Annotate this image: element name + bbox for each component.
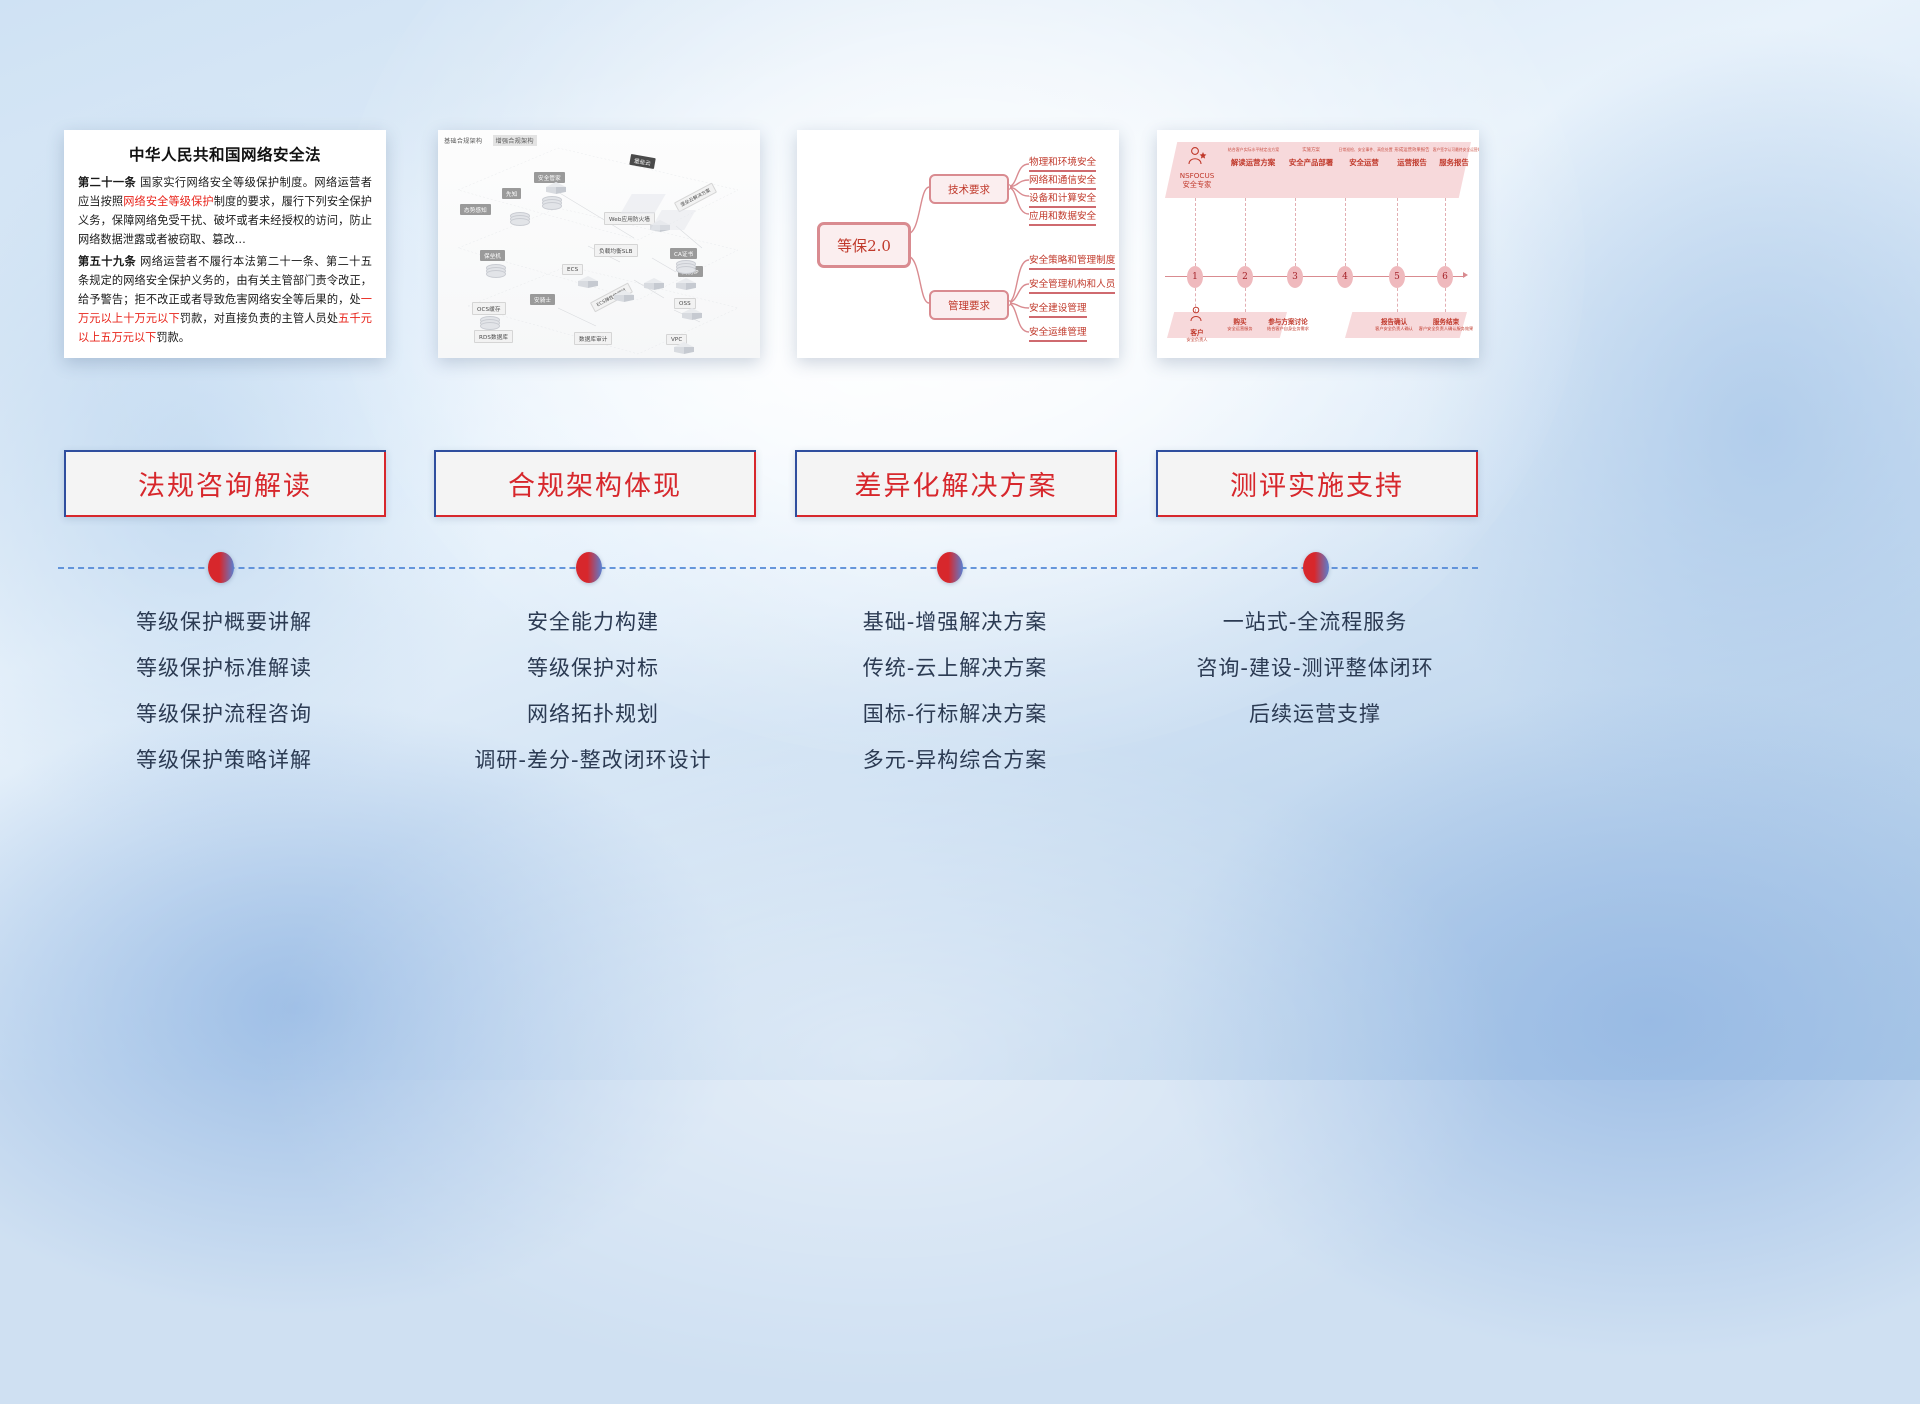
col-4-item-2: 咨询-建设-测评整体闭环 (1145, 654, 1485, 682)
column-evaluation-support: 一站式-全流程服务 咨询-建设-测评整体闭环 后续运营支撑 (1145, 608, 1485, 746)
banner-1-label: 法规咨询解读 (138, 464, 312, 503)
col-2-item-1: 安全能力构建 (423, 608, 763, 636)
column-regulation-consulting: 等级保护概要讲解 等级保护标准解读 等级保护流程咨询 等级保护策略详解 (54, 608, 394, 792)
col-1-item-1: 等级保护概要讲解 (54, 608, 394, 636)
col-1-item-3: 等级保护流程咨询 (54, 700, 394, 728)
banner-regulation-consulting[interactable]: 法规咨询解读 (64, 450, 386, 517)
banner-row: 法规咨询解读 合规架构体现 差异化解决方案 测评实施支持 (0, 0, 1920, 1080)
timeline-dot-3[interactable] (937, 552, 963, 583)
banner-differentiated-solution[interactable]: 差异化解决方案 (795, 450, 1117, 517)
timeline-dashed-line (58, 567, 1478, 569)
timeline-dot-1[interactable] (208, 552, 234, 583)
col-3-item-3: 国标-行标解决方案 (785, 700, 1125, 728)
col-4-item-1: 一站式-全流程服务 (1145, 608, 1485, 636)
col-3-item-2: 传统-云上解决方案 (785, 654, 1125, 682)
column-differentiated-solution: 基础-增强解决方案 传统-云上解决方案 国标-行标解决方案 多元-异构综合方案 (785, 608, 1125, 792)
col-4-item-3: 后续运营支撑 (1145, 700, 1485, 728)
col-2-item-4: 调研-差分-整改闭环设计 (423, 746, 763, 774)
col-2-item-3: 网络拓扑规划 (423, 700, 763, 728)
timeline-dot-4[interactable] (1303, 552, 1329, 583)
col-3-item-1: 基础-增强解决方案 (785, 608, 1125, 636)
banner-4-label: 测评实施支持 (1230, 464, 1404, 503)
col-2-item-2: 等级保护对标 (423, 654, 763, 682)
col-1-item-4: 等级保护策略详解 (54, 746, 394, 774)
col-1-item-2: 等级保护标准解读 (54, 654, 394, 682)
column-compliance-architecture: 安全能力构建 等级保护对标 网络拓扑规划 调研-差分-整改闭环设计 (423, 608, 763, 792)
banner-compliance-architecture[interactable]: 合规架构体现 (434, 450, 756, 517)
timeline-dot-2[interactable] (576, 552, 602, 583)
banner-3-label: 差异化解决方案 (855, 464, 1058, 503)
col-3-item-4: 多元-异构综合方案 (785, 746, 1125, 774)
banner-evaluation-support[interactable]: 测评实施支持 (1156, 450, 1478, 517)
banner-2-label: 合规架构体现 (508, 464, 682, 503)
